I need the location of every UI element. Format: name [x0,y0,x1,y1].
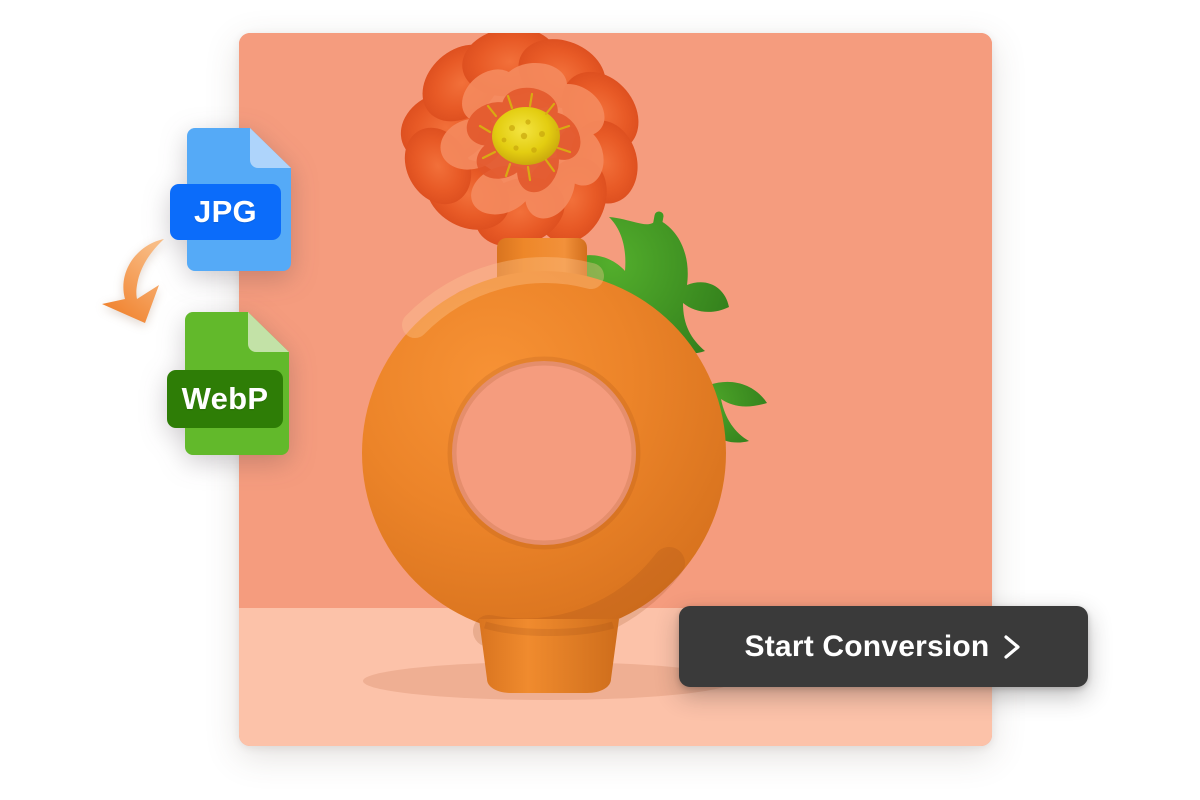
flower-head [391,33,654,259]
start-conversion-button-label: Start Conversion [745,632,1023,662]
conversion-arrow-icon [100,236,180,326]
file-chip-jpg[interactable]: JPG [178,128,291,271]
file-chip-webp[interactable]: WebP [176,312,289,455]
start-conversion-text: Start Conversion [745,632,990,662]
chevron-right-icon [1003,635,1022,659]
file-format-label: JPG [194,194,257,230]
conversion-arrow-svg [100,236,180,326]
screen-root: JPG WebP Start Conversion [0,0,1200,800]
file-format-label: WebP [182,381,269,417]
start-conversion-button[interactable]: Start Conversion [679,606,1088,687]
file-format-badge-jpg: JPG [170,184,281,240]
file-format-badge-webp: WebP [167,370,283,428]
